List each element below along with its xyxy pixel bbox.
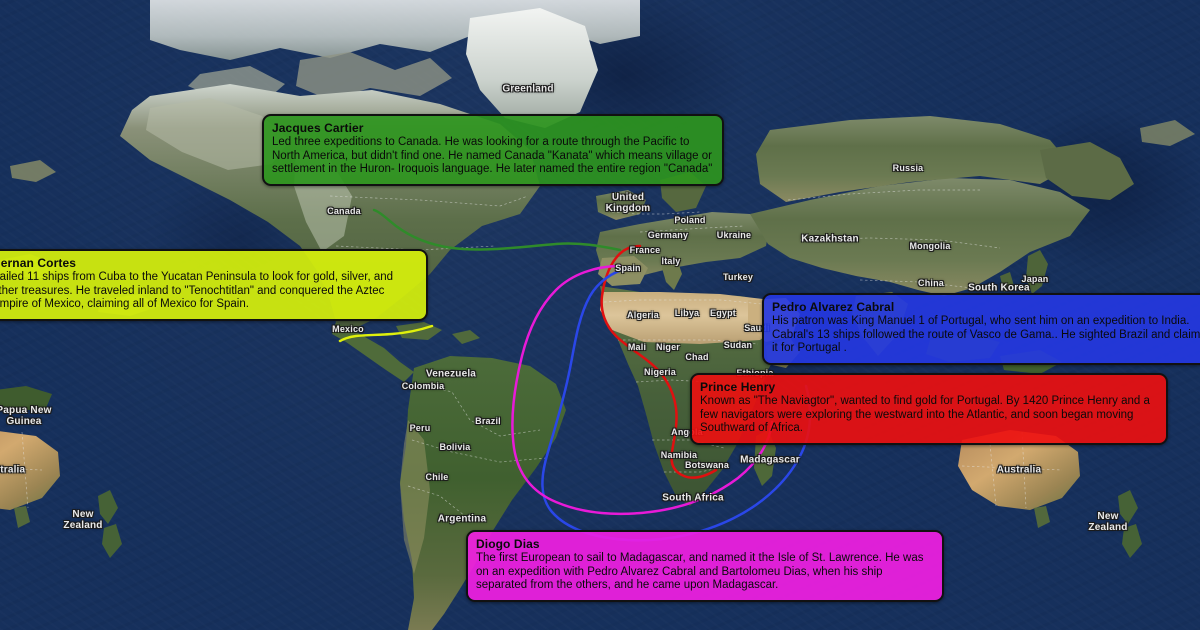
callout-title: Diogo Dias bbox=[476, 537, 934, 551]
callout-title: Prince Henry bbox=[700, 380, 1158, 394]
callout-body: Led three expeditions to Canada. He was … bbox=[272, 136, 714, 177]
callout-prince-henry[interactable]: Prince Henry Known as "The Naviagtor", w… bbox=[690, 373, 1168, 445]
route-hernan-cortes bbox=[340, 326, 432, 341]
callout-body: Sailed 11 ships from Cuba to the Yucatan… bbox=[0, 271, 418, 312]
callout-hernan-cortes[interactable]: Hernan Cortes Sailed 11 ships from Cuba … bbox=[0, 249, 428, 321]
callout-body: His patron was King Manuel 1 of Portugal… bbox=[772, 315, 1200, 356]
callout-body: Known as "The Naviagtor", wanted to find… bbox=[700, 395, 1158, 436]
callout-title: Hernan Cortes bbox=[0, 256, 418, 270]
callout-body: The first European to sail to Madagascar… bbox=[476, 552, 934, 593]
map-screenshot: GreenlandCanadaMexicoVenezuelaColombiaPe… bbox=[0, 0, 1200, 630]
callout-title: Pedro Alvarez Cabral bbox=[772, 300, 1200, 314]
route-jacques-cartier bbox=[374, 210, 620, 250]
callout-diogo-dias[interactable]: Diogo Dias The first European to sail to… bbox=[466, 530, 944, 602]
callout-title: Jacques Cartier bbox=[272, 121, 714, 135]
callout-jacques-cartier[interactable]: Jacques Cartier Led three expeditions to… bbox=[262, 114, 724, 186]
callout-pedro-alvarez-cabral[interactable]: Pedro Alvarez Cabral His patron was King… bbox=[762, 293, 1200, 365]
